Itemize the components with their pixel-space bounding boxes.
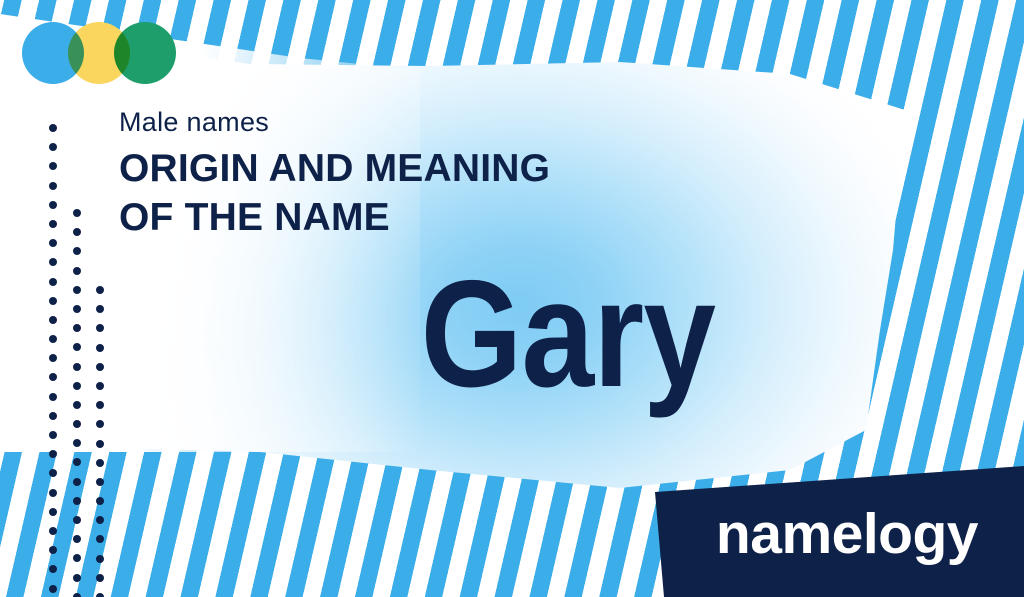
decorative-dot	[96, 440, 104, 448]
decorative-dot	[49, 124, 57, 132]
decorative-dot	[49, 508, 57, 516]
decorative-dot	[96, 478, 104, 486]
decorative-dot	[96, 535, 104, 543]
decorative-dot	[73, 593, 81, 597]
decorative-dot	[96, 420, 104, 428]
name-meaning-card: Male names ORIGIN AND MEANING OF THE NAM…	[0, 0, 1024, 597]
decorative-dot	[73, 554, 81, 562]
decorative-dot	[73, 420, 81, 428]
brand-wordmark: namelogy	[716, 506, 978, 563]
circle-green-icon	[114, 22, 176, 84]
decorative-dot	[49, 258, 57, 266]
headline-block: Male names ORIGIN AND MEANING OF THE NAM…	[119, 108, 679, 242]
decorative-dot	[49, 162, 57, 170]
namelogy-circles-mark	[22, 22, 182, 84]
decorative-dot	[49, 335, 57, 343]
decorative-dot	[49, 316, 57, 324]
decorative-dot	[49, 393, 57, 401]
decorative-dot	[49, 546, 57, 554]
decorative-dot	[96, 516, 104, 524]
decorative-dot	[49, 565, 57, 573]
decorative-dot	[73, 535, 81, 543]
decorative-dot	[73, 497, 81, 505]
decorative-dot	[96, 497, 104, 505]
page-title-line-1: ORIGIN AND MEANING	[119, 144, 679, 193]
decorative-dot	[96, 555, 104, 563]
category-kicker: Male names	[119, 108, 679, 138]
decorative-dot	[96, 459, 104, 467]
featured-name: Gary	[72, 258, 953, 410]
decorative-dot	[49, 489, 57, 497]
dot-column-1	[49, 124, 57, 597]
decorative-dot	[73, 228, 81, 236]
decorative-dot	[49, 450, 57, 458]
page-title-line-2: OF THE NAME	[119, 193, 679, 242]
decorative-dot	[49, 278, 57, 286]
decorative-dot	[49, 143, 57, 151]
decorative-dot	[49, 469, 57, 477]
decorative-dot	[49, 201, 57, 209]
decorative-dot	[49, 585, 57, 593]
decorative-dot	[49, 297, 57, 305]
decorative-dot	[49, 412, 57, 420]
decorative-dot	[49, 239, 57, 247]
decorative-dot	[73, 247, 81, 255]
decorative-dot	[49, 182, 57, 190]
decorative-dot	[49, 431, 57, 439]
decorative-dot	[73, 516, 81, 524]
decorative-dot	[49, 527, 57, 535]
decorative-dot	[73, 439, 81, 447]
decorative-dot	[73, 478, 81, 486]
decorative-dot	[49, 354, 57, 362]
decorative-dot	[73, 458, 81, 466]
decorative-dot	[96, 593, 104, 597]
decorative-dot	[73, 209, 81, 217]
decorative-dot	[96, 574, 104, 582]
decorative-dot	[49, 220, 57, 228]
decorative-dot	[49, 373, 57, 381]
decorative-dot	[73, 574, 81, 582]
page-title: ORIGIN AND MEANING OF THE NAME	[119, 144, 679, 242]
